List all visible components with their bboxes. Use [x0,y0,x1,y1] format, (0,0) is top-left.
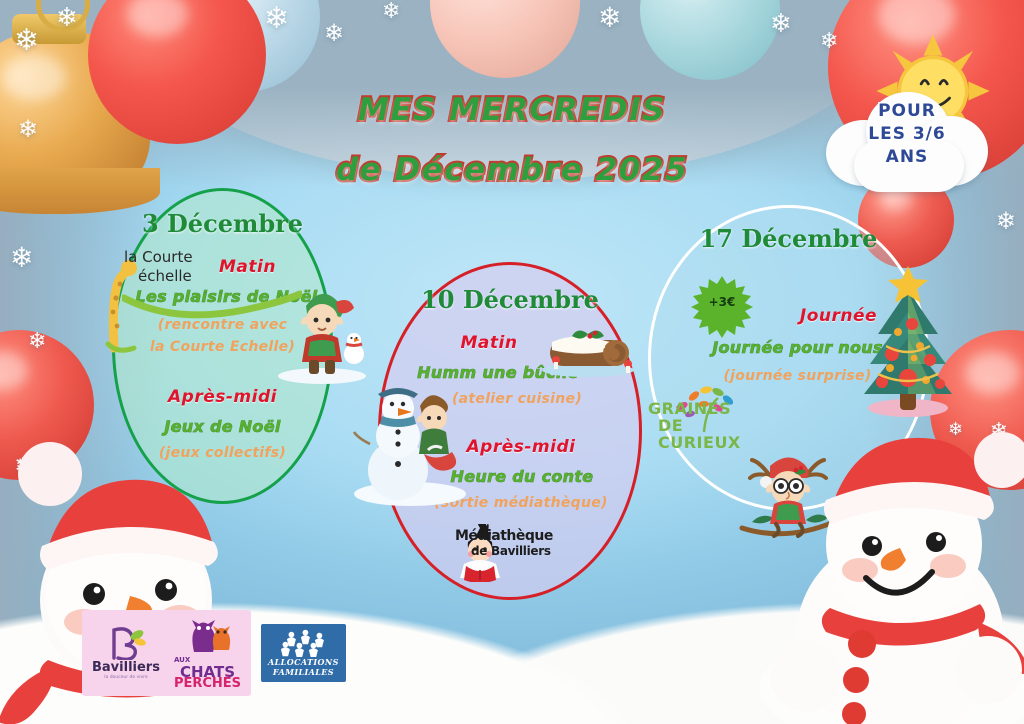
activity-title: Jeux de Noël [115,417,330,436]
logo-bavilliers-tagline: la douceur de vivre [104,675,147,680]
snowman-icon [750,426,1024,724]
partner-logo-graines-de-curieux: GRAINES DE CURIEUX [648,400,748,451]
price-badge-label: +3€ [690,295,754,309]
partner-logo-courte-echelle: la Courte échelle [124,248,244,286]
christmas-activity-poster: POUR LES 3/6 ANS ❄ ❄ ❄ ❄ ❄ ❄ ❄ ❄ ❄ ❄ ❄ ❄… [0,0,1024,724]
title-line-1: MES MERCREDIS [0,92,1024,128]
snowflake-icon: ❄ [264,4,289,34]
logo-allocations-familiales: ALLOCATIONS FAMILIALES [261,624,346,682]
footer-logo-strip: Bavilliers la douceur de vivre AUX CHATS… [82,610,346,696]
logo-chats-perches: AUX CHATS PERCHÉS [174,616,241,690]
logo-bavilliers: Bavilliers la douceur de vivre [92,626,160,680]
christmas-tree-icon [852,262,964,420]
cats-icon [180,616,236,654]
snowman-icon [352,358,472,508]
bavilliers-b-icon [104,626,148,660]
logo-line-1: la Courte [124,248,244,267]
poster-title: MES MERCREDIS de Décembre 2025 [0,92,1024,188]
snowflake-icon: ❄ [10,244,33,272]
snowflake-icon: ❄ [56,4,78,30]
green-swoosh-icon [122,288,302,324]
yule-log-cake-icon [536,318,640,380]
bubble-date: 3 Décembre [115,209,330,238]
snowflake-icon: ❄ [770,10,792,36]
logo-line-1: Médiathèque [455,528,575,544]
logo-line-1: GRAINES [648,400,748,417]
logo-bavilliers-name: Bavilliers [92,660,160,675]
caf-people-icon [278,629,328,657]
caf-line-2: FAMILIALES [273,667,334,677]
logo-line-2: DE CURIEUX [658,417,748,451]
bubble-date: 10 Décembre [381,285,639,314]
session-label-afternoon: Après-midi [115,387,330,407]
logo-line-2: échelle [138,267,244,286]
snowflake-icon: ❄ [996,210,1016,234]
snowflake-icon: ❄ [820,30,838,52]
snowflake-icon: ❄ [28,330,46,352]
title-line-2: de Décembre 2025 [0,152,1024,188]
snowflake-icon: ❄ [598,4,621,32]
caf-line-1: ALLOCATIONS [268,657,339,667]
partner-logo-mediatheque: Médiathèque de Bavilliers [455,528,575,558]
logo-chats-line-2: PERCHÉS [174,678,241,690]
snowflake-icon: ❄ [324,22,344,46]
snowflake-icon: ❄ [382,0,400,22]
snowflake-icon: ❄ [14,26,39,56]
logo-line-2: de Bavilliers [471,544,575,558]
logo-bavilliers-chats-perches: Bavilliers la douceur de vivre AUX CHATS… [82,610,251,696]
bubble-date: 17 Décembre [651,224,926,253]
